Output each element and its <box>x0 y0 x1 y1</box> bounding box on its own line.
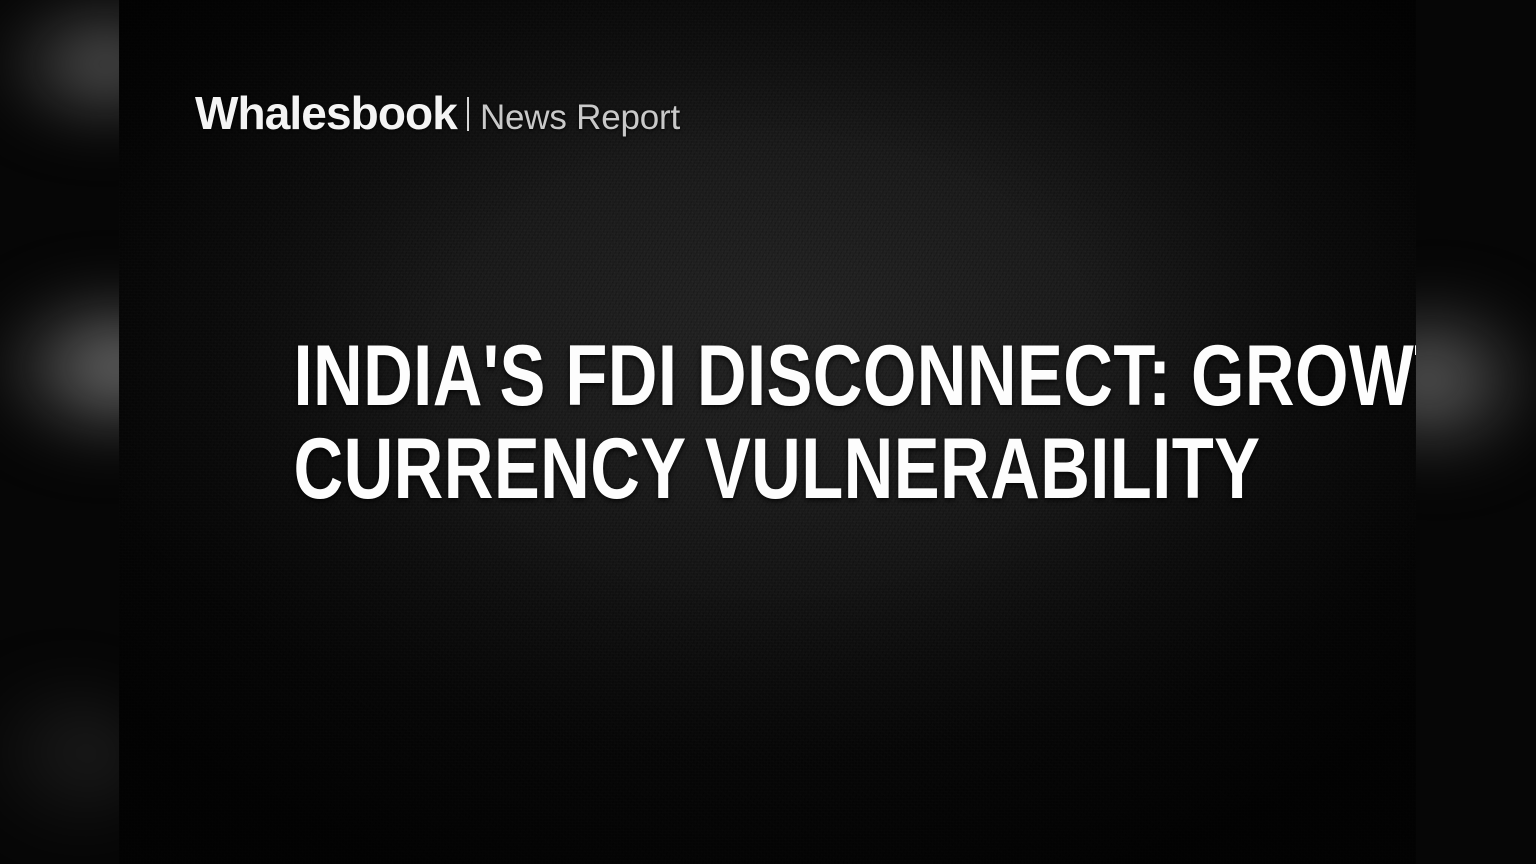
content-panel: Whalesbook News Report INDIA'S FDI DISCO… <box>119 0 1416 864</box>
panel-inner: Whalesbook News Report INDIA'S FDI DISCO… <box>119 0 1416 864</box>
news-card-stage: Whalesbook News Report INDIA'S FDI DISCO… <box>0 0 1536 864</box>
brand-subtitle: News Report <box>480 100 680 135</box>
page-title: INDIA'S FDI DISCONNECT: GROWTH MASKS CUR… <box>119 330 1416 516</box>
headline-line-1: INDIA'S FDI DISCONNECT: GROWTH MASKS <box>294 330 1242 423</box>
headline-line-2: CURRENCY VULNERABILITY <box>294 423 1242 516</box>
brand-name: Whalesbook <box>195 90 457 136</box>
brand-divider-icon <box>467 97 469 131</box>
brand-lockup: Whalesbook News Report <box>195 90 680 136</box>
